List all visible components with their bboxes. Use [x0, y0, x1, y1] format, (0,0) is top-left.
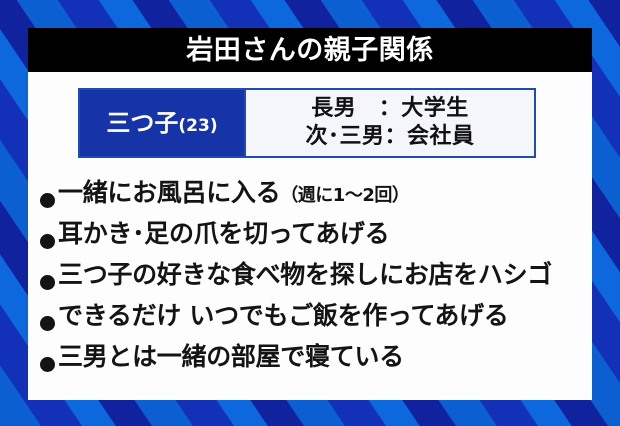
list-item-label: 三男とは一緒の部屋で寝ている [58, 344, 404, 369]
list-item-label: 三つ子の好きな食べ物を探しにお店をハシゴ [58, 262, 552, 287]
sibling-role-eldest: 長男 ：大学生 [311, 96, 469, 122]
list-item: できるだけ いつでもご飯を作ってあげる [40, 303, 584, 344]
list-item-label: 耳かき･足の爪を切ってあげる [58, 221, 389, 246]
list-item: 三つ子の好きな食べ物を探しにお店をハシゴ [40, 262, 584, 303]
bullet-dot-icon [40, 316, 55, 331]
triplets-label: 三つ子(23) [106, 111, 217, 135]
graphic-stage: 岩田さんの親子関係 三つ子(23) 長男 ：大学生 次･三男：会社員 一緒にお風… [0, 0, 620, 426]
triplets-label-text: 三つ子 [106, 109, 178, 137]
bullet-dot-icon [40, 193, 55, 208]
list-item: 三男とは一緒の部屋で寝ている [40, 344, 584, 385]
list-item-label: できるだけ いつでもご飯を作ってあげる [58, 303, 509, 328]
title-bar: 岩田さんの親子関係 [28, 28, 592, 72]
sibling-roles: 長男 ：大学生 次･三男：会社員 [244, 90, 534, 156]
triplets-badge: 三つ子(23) [80, 90, 244, 156]
content-panel: 三つ子(23) 長男 ：大学生 次･三男：会社員 一緒にお風呂に入る （週に1～… [28, 72, 592, 400]
habit-list: 一緒にお風呂に入る （週に1～2回） 耳かき･足の爪を切ってあげる 三つ子の好き… [40, 180, 584, 385]
bullet-dot-icon [40, 357, 55, 372]
family-summary-box: 三つ子(23) 長男 ：大学生 次･三男：会社員 [78, 88, 536, 158]
list-item: 耳かき･足の爪を切ってあげる [40, 221, 584, 262]
sibling-role-second-third: 次･三男：会社員 [305, 124, 474, 150]
bullet-dot-icon [40, 275, 55, 290]
list-item-label: 一緒にお風呂に入る [58, 180, 280, 205]
list-item: 一緒にお風呂に入る （週に1～2回） [40, 180, 584, 221]
bullet-dot-icon [40, 234, 55, 249]
triplets-age: (23) [178, 116, 217, 136]
list-item-note: （週に1～2回） [280, 181, 409, 207]
page-title: 岩田さんの親子関係 [186, 37, 434, 64]
